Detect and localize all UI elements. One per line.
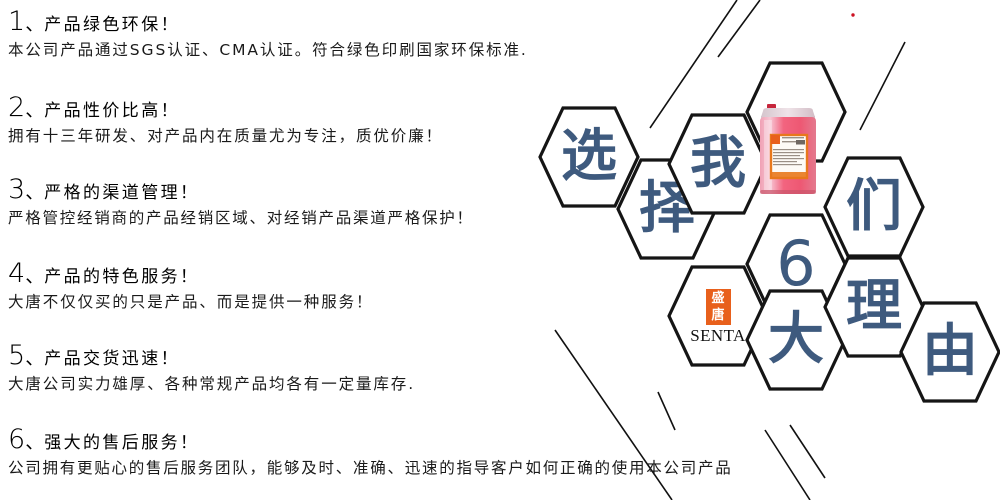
reason-title: 严格的渠道管理！ xyxy=(44,185,199,202)
reason-separator: 、 xyxy=(25,101,44,120)
reason-heading: 1 、 产品绿色环保！ xyxy=(8,8,658,35)
reason-body: 大唐不仅仅买的只是产品、而是提供一种服务！ xyxy=(8,294,658,311)
reason-number: 2 xyxy=(8,94,25,121)
reason-separator: 、 xyxy=(25,349,44,368)
reason-separator: 、 xyxy=(25,267,44,286)
reason-title: 产品绿色环保！ xyxy=(44,17,180,34)
hex-cell-you[interactable]: 由 xyxy=(898,300,1000,404)
reason-heading: 5 、 产品交货迅速！ xyxy=(8,342,658,369)
hex-label: 由 xyxy=(898,300,1000,404)
reason-heading: 4 、 产品的特色服务！ xyxy=(8,260,658,287)
reason-number: 6 xyxy=(8,426,25,453)
reason-separator: 、 xyxy=(25,15,44,34)
brand-stamp-line2: 唐 xyxy=(711,307,724,324)
reason-number: 3 xyxy=(8,176,25,203)
reason-separator: 、 xyxy=(25,433,44,452)
reason-heading: 6 、 强大的售后服务！ xyxy=(8,426,1000,453)
brand-stamp-line1: 盛 xyxy=(711,290,724,307)
reason-number: 1 xyxy=(8,8,25,35)
promo-banner: 1 、 产品绿色环保！ 本公司产品通过SGS认证、CMA认证。符合绿色印刷国家环… xyxy=(0,0,1000,500)
hex-label: 们 xyxy=(822,155,926,259)
reason-item: 5 、 产品交货迅速！ 大唐公司实力雄厚、各种常规产品均各有一定量库存. xyxy=(8,342,658,393)
reason-body: 严格管控经销商的产品经销区域、对经销产品渠道严格保护！ xyxy=(8,210,658,227)
reason-separator: 、 xyxy=(25,183,44,202)
reason-body: 大唐公司实力雄厚、各种常规产品均各有一定量库存. xyxy=(8,376,658,393)
reason-title: 产品性价比高！ xyxy=(44,103,180,120)
reason-body: 公司拥有更贴心的售后服务团队，能够及时、准确、迅速的指导客户如何正确的使用本公司… xyxy=(8,460,1000,477)
reason-title: 强大的售后服务！ xyxy=(44,435,199,452)
hex-cell-men[interactable]: 们 xyxy=(822,155,926,259)
reason-body: 本公司产品通过SGS认证、CMA认证。符合绿色印刷国家环保标准. xyxy=(8,42,658,59)
brand-stamp-icon: 盛 唐 xyxy=(706,289,731,325)
reason-item: 4 、 产品的特色服务！ 大唐不仅仅买的只是产品、而是提供一种服务！ xyxy=(8,260,658,311)
reasons-list: 1 、 产品绿色环保！ 本公司产品通过SGS认证、CMA认证。符合绿色印刷国家环… xyxy=(0,0,660,500)
reason-item: 1 、 产品绿色环保！ 本公司产品通过SGS认证、CMA认证。符合绿色印刷国家环… xyxy=(8,8,658,59)
reason-number: 4 xyxy=(8,260,25,287)
product-jerrycan-photo xyxy=(757,104,819,200)
reason-number: 5 xyxy=(8,342,25,369)
reason-title: 产品交货迅速！ xyxy=(44,351,180,368)
reason-item: 6 、 强大的售后服务！ 公司拥有更贴心的售后服务团队，能够及时、准确、迅速的指… xyxy=(8,426,1000,477)
reason-title: 产品的特色服务！ xyxy=(44,269,199,286)
brand-latin-name: SENTA xyxy=(690,327,745,344)
